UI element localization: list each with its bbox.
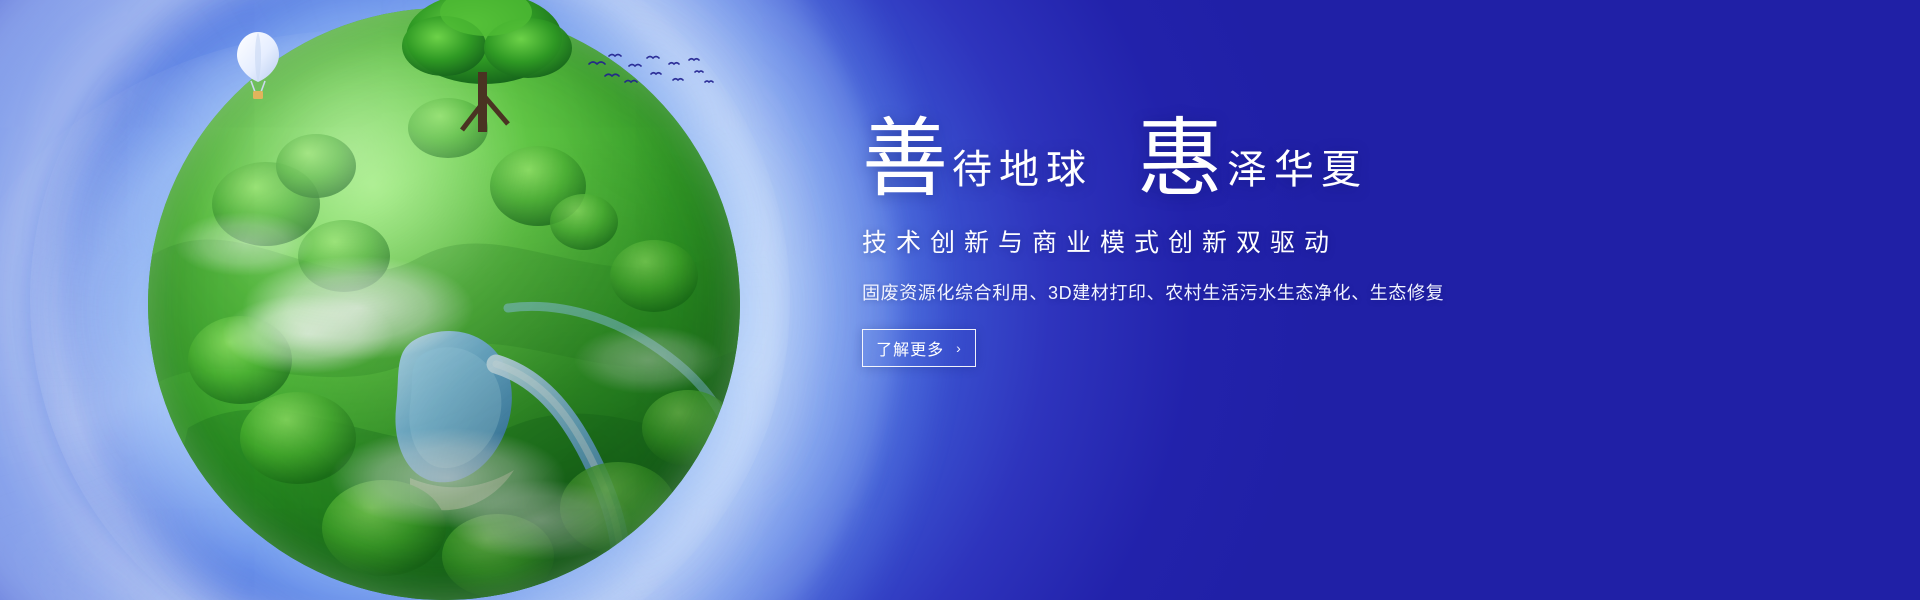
headline-2-rest: 泽华夏 [1227, 150, 1368, 199]
bird-flock-icon [585, 48, 715, 90]
page-subtitle: 技术创新与商业模式创新双驱动 [862, 223, 1482, 259]
page-description: 固废资源化综合利用、3D建材打印、农村生活污水生态净化、生态修复 [862, 279, 1482, 305]
hero-copy: 善 待地球 惠 泽华夏 技术创新与商业模式创新双驱动 固废资源化综合利用、3D建… [862, 120, 1482, 367]
headline-2-lead-char: 惠 [1137, 120, 1223, 199]
hot-air-balloon-icon [235, 30, 281, 104]
page-title: 善 待地球 惠 泽华夏 [862, 120, 1482, 199]
hero-banner: 善 待地球 惠 泽华夏 技术创新与商业模式创新双驱动 固废资源化综合利用、3D建… [0, 0, 1920, 600]
tree-icon [392, 0, 582, 134]
headline-phrase-2: 惠 泽华夏 [1137, 120, 1368, 199]
chevron-right-icon: › [956, 341, 962, 355]
learn-more-label: 了解更多 [876, 336, 944, 360]
headline-1-rest: 待地球 [952, 150, 1093, 199]
headline-phrase-1: 善 待地球 [862, 120, 1093, 199]
headline-1-lead-char: 善 [862, 120, 948, 199]
learn-more-button[interactable]: 了解更多 › [862, 329, 976, 367]
